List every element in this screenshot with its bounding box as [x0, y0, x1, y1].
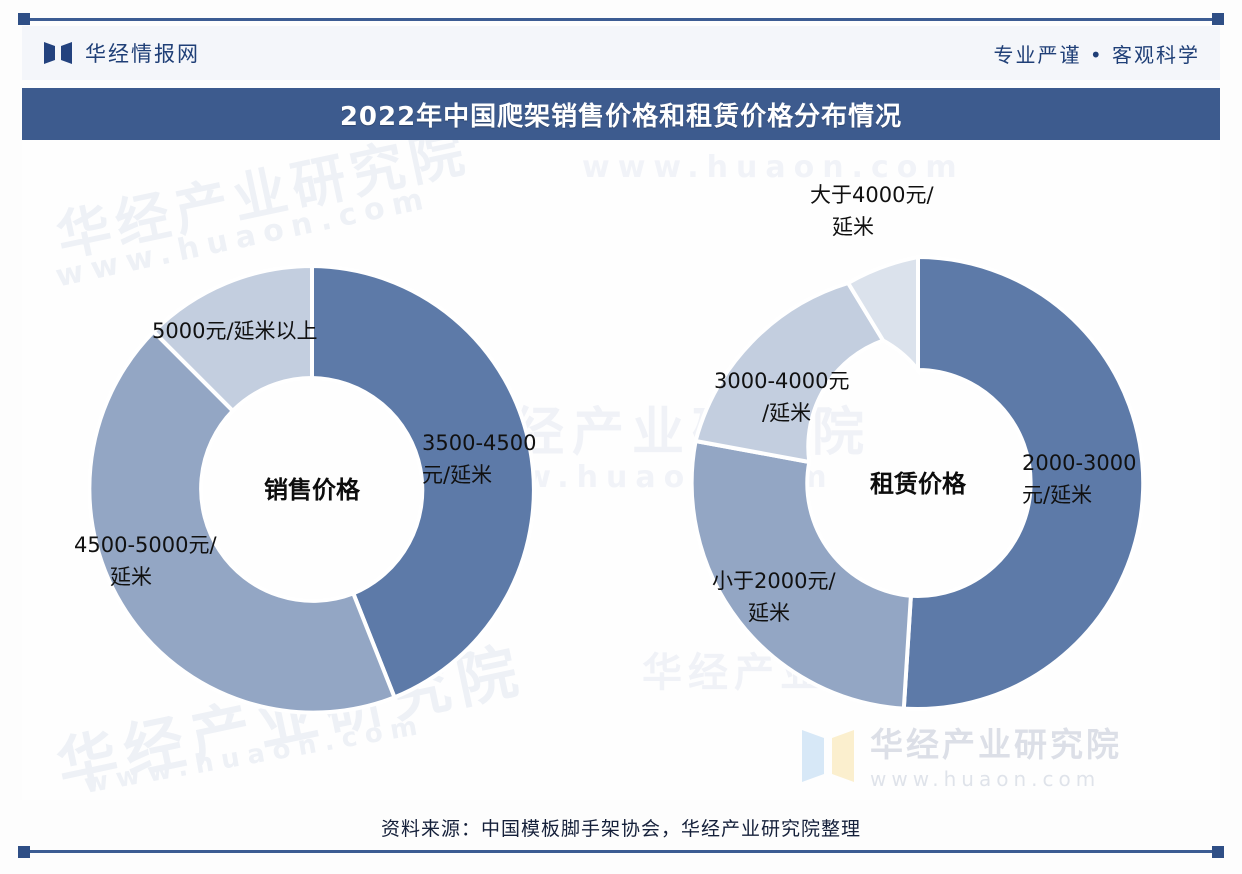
top-right-cap: [1212, 13, 1224, 25]
donut-sales-center-label: 销售价格: [264, 476, 361, 504]
huaon-logo-icon: [800, 724, 856, 786]
label-sales-4500-5000-line1: 4500-5000元/: [74, 533, 217, 557]
label-rental-below-2000-line1: 小于2000元/: [712, 569, 836, 593]
page-title: 2022年中国爬架销售价格和租赁价格分布情况: [340, 96, 902, 133]
donut-chart-sales: 销售价格 3500-4500 元/延米 4500-5000元/ 延米 5000元…: [74, 266, 536, 713]
label-sales-4500-5000-line2: 延米: [110, 565, 152, 589]
label-rental-3000-4000-line1: 3000-4000元: [714, 369, 849, 393]
top-left-cap: [18, 13, 30, 25]
footer-watermark-brand: 华经产业研究院: [870, 718, 1122, 766]
chart-title-bar: 2022年中国爬架销售价格和租赁价格分布情况: [22, 88, 1220, 140]
top-divider-rule: [22, 18, 1220, 21]
footer-watermark-logo: 华经产业研究院 www.huaon.com: [800, 718, 1122, 791]
label-sales-above-5000: 5000元/延米以上: [152, 319, 318, 343]
bottom-right-cap: [1212, 846, 1224, 858]
brand-header: 华经情报网 专业严谨 • 客观科学: [22, 26, 1220, 80]
huajing-book-logo-icon: [44, 41, 72, 65]
label-rental-2000-3000-line1: 2000-3000: [1022, 451, 1136, 475]
label-sales-3500-4500-line1: 3500-4500: [422, 431, 536, 455]
label-rental-2000-3000-line2: 元/延米: [1022, 483, 1092, 507]
donut-rental-center-label: 租赁价格: [870, 470, 967, 498]
footer-watermark-text: 华经产业研究院 www.huaon.com: [870, 718, 1122, 791]
label-rental-3000-4000-line2: /延米: [762, 401, 811, 425]
label-rental-below-2000-line2: 延米: [748, 601, 790, 625]
source-row: 资料来源：中国模板脚手架协会，华经产业研究院整理: [22, 806, 1220, 848]
chart-canvas: 华经产业研究院 www.huaon.com 华经产业研究院 www.huaon.…: [22, 140, 1220, 800]
footer-watermark-site: www.huaon.com: [870, 767, 1122, 791]
brand-left-group: 华经情报网: [22, 38, 200, 68]
brand-tagline: 专业严谨 • 客观科学: [993, 39, 1220, 68]
donut-charts: 销售价格 3500-4500 元/延米 4500-5000元/ 延米 5000元…: [22, 140, 1220, 800]
brand-name: 华经情报网: [85, 38, 200, 68]
label-rental-above-4000-line1: 大于4000元/: [810, 183, 934, 207]
bottom-divider-rule: [22, 850, 1220, 853]
label-sales-3500-4500-line2: 元/延米: [422, 463, 492, 487]
label-rental-above-4000-line2: 延米: [832, 215, 874, 239]
infographic-page: 华经情报网 专业严谨 • 客观科学 2022年中国爬架销售价格和租赁价格分布情况…: [0, 0, 1242, 874]
donut-chart-rental: 租赁价格 2000-3000 元/延米 小于2000元/ 延米 3000-400…: [692, 183, 1144, 709]
bottom-left-cap: [18, 846, 30, 858]
source-text: 资料来源：中国模板脚手架协会，华经产业研究院整理: [381, 814, 861, 841]
